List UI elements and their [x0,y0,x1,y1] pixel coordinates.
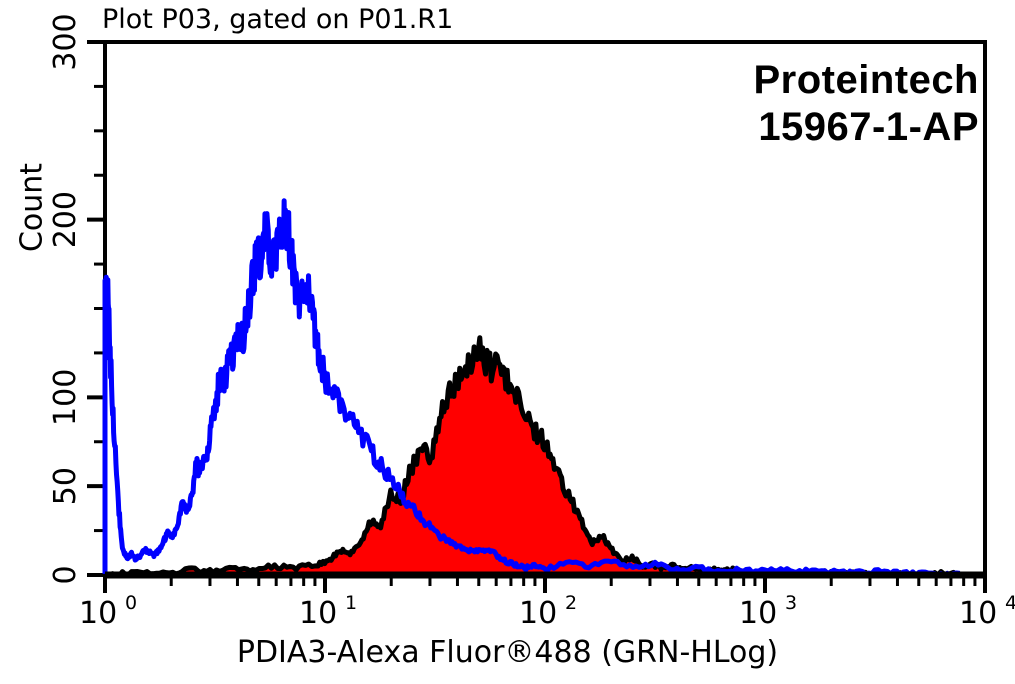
x-tick-labels: 100101102103104 [79,592,1015,631]
y-tick-labels: 050100200300 [48,13,83,584]
histogram-plot: 100101102103104050100200300 [0,0,1015,684]
y-tick-label: 300 [48,13,83,70]
x-tick-exponent: 4 [1005,592,1015,614]
y-tick-label: 0 [48,565,83,584]
flow-cytometry-figure: Plot P03, gated on P01.R1 Proteintech 15… [0,0,1015,684]
x-tick-label: 10 [519,596,557,631]
y-tick-label: 50 [48,467,83,505]
y-tick-label: 200 [48,191,83,248]
x-tick-exponent: 3 [785,592,797,614]
x-tick-label: 10 [739,596,777,631]
stained-histogram-fill [105,338,985,575]
x-tick-label: 10 [299,596,337,631]
x-tick-label: 10 [959,596,997,631]
x-tick-exponent: 0 [125,592,137,614]
y-tick-label: 100 [48,369,83,426]
x-tick-exponent: 1 [345,592,357,614]
x-tick-label: 10 [79,596,117,631]
x-tick-exponent: 2 [565,592,577,614]
y-axis-ticks [87,42,105,575]
